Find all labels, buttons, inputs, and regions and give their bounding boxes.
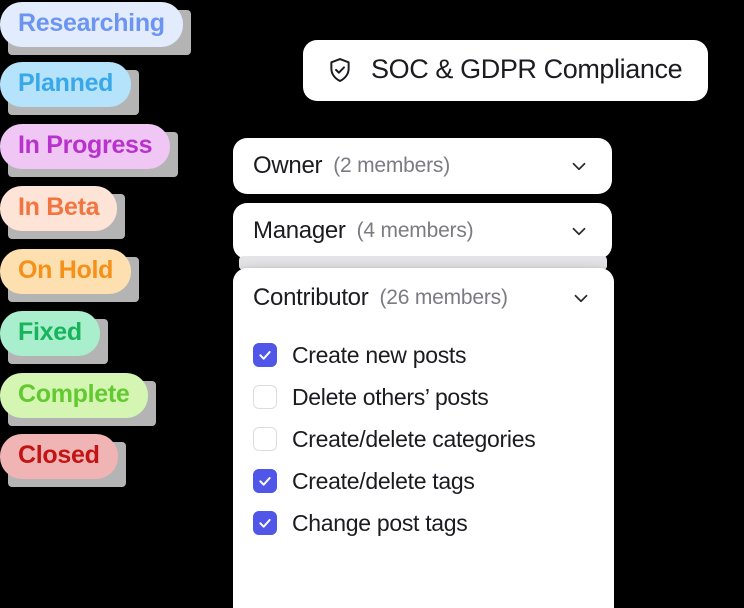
compliance-badge-card[interactable]: SOC & GDPR Compliance bbox=[303, 40, 708, 101]
permission-label: Change post tags bbox=[292, 510, 468, 537]
checkbox-checked-icon[interactable] bbox=[253, 469, 277, 493]
status-tag-label: On Hold bbox=[0, 249, 131, 294]
checkbox-unchecked-icon[interactable] bbox=[253, 385, 277, 409]
permission-row[interactable]: Change post tags bbox=[233, 502, 614, 544]
checkbox-unchecked-icon[interactable] bbox=[253, 427, 277, 451]
status-tag-label: Planned bbox=[0, 62, 131, 107]
status-tag-label: In Beta bbox=[0, 186, 117, 231]
status-tag-closed[interactable]: Closed bbox=[0, 434, 118, 479]
status-tag-in-progress[interactable]: In Progress bbox=[0, 124, 170, 169]
role-name: Owner bbox=[253, 152, 322, 180]
status-tag-label: Complete bbox=[0, 373, 148, 418]
role-member-count: (4 members) bbox=[357, 219, 474, 243]
permission-label: Create new posts bbox=[292, 342, 466, 369]
chevron-down-icon[interactable] bbox=[568, 155, 590, 177]
compliance-title: SOC & GDPR Compliance bbox=[371, 54, 682, 85]
permission-row[interactable]: Create new posts bbox=[233, 334, 614, 376]
status-tag-in-beta[interactable]: In Beta bbox=[0, 186, 117, 231]
role-name: Contributor bbox=[253, 284, 368, 312]
status-tag-fixed[interactable]: Fixed bbox=[0, 311, 100, 356]
status-tag-planned[interactable]: Planned bbox=[0, 62, 131, 107]
status-tag-label: Fixed bbox=[0, 311, 100, 356]
permission-row[interactable]: Delete others’ posts bbox=[233, 376, 614, 418]
permission-label: Create/delete tags bbox=[292, 468, 475, 495]
permission-row[interactable]: Create/delete tags bbox=[233, 460, 614, 502]
status-tag-label: Researching bbox=[0, 2, 183, 47]
permission-row[interactable]: Create/delete categories bbox=[233, 418, 614, 460]
status-tag-label: In Progress bbox=[0, 124, 170, 169]
chevron-down-icon[interactable] bbox=[568, 220, 590, 242]
status-tag-list: ResearchingPlannedIn ProgressIn BetaOn H… bbox=[0, 0, 230, 600]
status-tag-on-hold[interactable]: On Hold bbox=[0, 249, 131, 294]
checkbox-checked-icon[interactable] bbox=[253, 343, 277, 367]
role-member-count: (26 members) bbox=[379, 286, 507, 310]
role-header-owner[interactable]: Owner (2 members) bbox=[233, 138, 612, 194]
role-card-owner[interactable]: Owner (2 members) bbox=[233, 138, 612, 194]
permission-label: Create/delete categories bbox=[292, 426, 535, 453]
role-header-manager[interactable]: Manager (4 members) bbox=[233, 203, 612, 259]
permission-label: Delete others’ posts bbox=[292, 384, 488, 411]
role-card-manager[interactable]: Manager (4 members) bbox=[233, 203, 612, 259]
role-header-contributor[interactable]: Contributor (26 members) bbox=[233, 268, 614, 328]
status-tag-label: Closed bbox=[0, 434, 118, 479]
permission-list: Create new postsDelete others’ postsCrea… bbox=[233, 328, 614, 544]
status-tag-complete[interactable]: Complete bbox=[0, 373, 148, 418]
role-member-count: (2 members) bbox=[333, 154, 450, 178]
status-tag-researching[interactable]: Researching bbox=[0, 2, 183, 47]
role-name: Manager bbox=[253, 217, 346, 245]
chevron-down-icon[interactable] bbox=[570, 287, 592, 309]
shield-check-icon bbox=[325, 55, 355, 85]
checkbox-checked-icon[interactable] bbox=[253, 511, 277, 535]
role-card-contributor[interactable]: Contributor (26 members) Create new post… bbox=[233, 268, 614, 608]
